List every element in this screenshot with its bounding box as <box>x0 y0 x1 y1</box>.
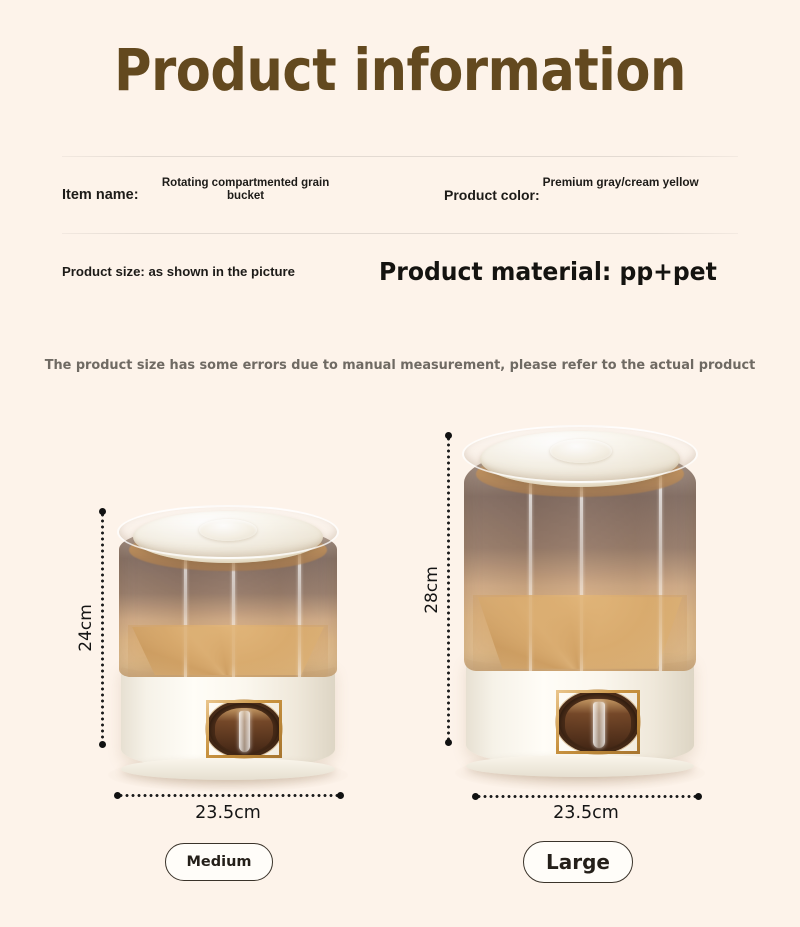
large-width-dot-right <box>695 793 702 800</box>
product-large <box>460 425 700 785</box>
large-dispenser-opening <box>556 690 640 754</box>
medium-inner-cone <box>132 624 324 676</box>
medium-width-dot-right <box>337 792 344 799</box>
medium-height-dot-bottom <box>99 741 106 748</box>
size-badge-large-label: Large <box>546 850 610 874</box>
medium-dispenser-opening <box>206 700 282 758</box>
medium-width-label: 23.5cm <box>128 803 328 823</box>
large-base-bottom <box>466 755 694 777</box>
large-height-dot-bottom <box>445 739 452 746</box>
medium-outer-rim <box>117 505 339 559</box>
product-illustration-stage: 24cm 23.5cm Medium <box>0 0 800 927</box>
medium-base-bottom <box>121 758 335 780</box>
large-outer-rim <box>462 425 698 483</box>
large-width-dimension-line <box>476 795 698 798</box>
product-medium <box>115 505 341 783</box>
large-dispenser-lever <box>593 702 605 747</box>
medium-width-dimension-line <box>118 794 340 797</box>
size-badge-medium[interactable]: Medium <box>165 843 273 881</box>
medium-height-dimension-line <box>101 512 104 744</box>
medium-width-dot-left <box>114 792 121 799</box>
large-width-label: 23.5cm <box>486 803 686 823</box>
medium-dispenser-lever <box>239 711 250 752</box>
medium-height-dot-top <box>99 508 106 515</box>
large-width-dot-left <box>472 793 479 800</box>
large-height-label: 28cm <box>422 560 442 620</box>
size-badge-medium-label: Medium <box>186 854 251 870</box>
medium-height-label: 24cm <box>76 598 96 658</box>
large-height-dot-top <box>445 432 452 439</box>
large-inner-cone <box>478 593 682 669</box>
product-information-page: Product information Item name: Rotating … <box>0 0 800 927</box>
size-badge-large[interactable]: Large <box>523 841 633 883</box>
large-height-dimension-line <box>447 436 450 742</box>
